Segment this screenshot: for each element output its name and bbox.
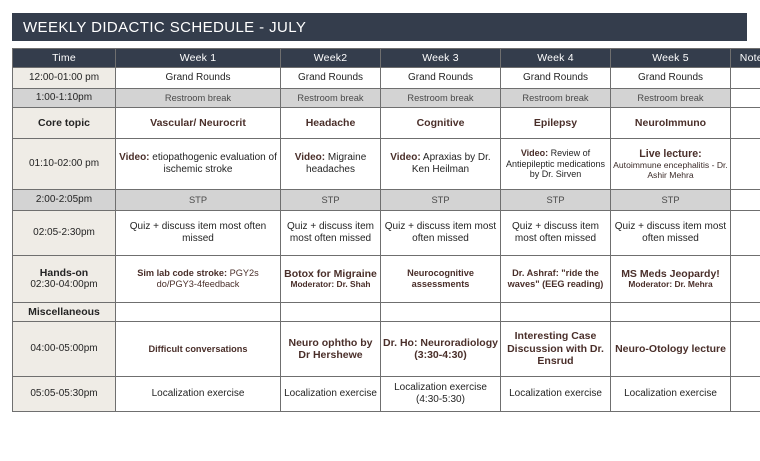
- table-row: Miscellaneous: [13, 303, 760, 322]
- table-row: 05:05-05:30pm Localization exercise Loca…: [13, 377, 760, 412]
- column-header-time: Time: [13, 49, 116, 68]
- cell-notes: [731, 211, 760, 256]
- cell-notes: [731, 108, 760, 139]
- table-row: 12:00-01:00 pm Grand Rounds Grand Rounds…: [13, 68, 760, 89]
- cell-week3: Neurocognitive assessments: [381, 256, 501, 303]
- cell-week2: Botox for Migraine Moderator: Dr. Shah: [281, 256, 381, 303]
- column-header-week5: Week 5: [611, 49, 731, 68]
- cell-week1: Quiz + discuss item most often missed: [116, 211, 281, 256]
- cell-week2: [281, 303, 381, 322]
- table-row: 01:10-02:00 pm Video: etiopathogenic eva…: [13, 139, 760, 190]
- cell-week5: MS Meds Jeopardy! Moderator: Dr. Mehra: [611, 256, 731, 303]
- activity-title: Neurocognitive assessments: [407, 268, 474, 289]
- row-time-label: 01:10-02:00 pm: [13, 139, 116, 190]
- cell-notes: [731, 322, 760, 377]
- cell-week1: Restroom break: [116, 89, 281, 108]
- table-row: Hands-on 02:30-04:00pm Sim lab code stro…: [13, 256, 760, 303]
- cell-week4: Dr. Ashraf: "ride the waves" (EEG readin…: [501, 256, 611, 303]
- cell-week1: Video: etiopathogenic evaluation of isch…: [116, 139, 281, 190]
- cell-week4: Epilepsy: [501, 108, 611, 139]
- activity-title: Botox for Migraine: [284, 268, 377, 280]
- cell-week3: STP: [381, 190, 501, 211]
- column-header-week4: Week 4: [501, 49, 611, 68]
- cell-week2: Localization exercise: [281, 377, 381, 412]
- table-body: 12:00-01:00 pm Grand Rounds Grand Rounds…: [13, 68, 760, 412]
- cell-week3: Video: Apraxias by Dr. Ken Heilman: [381, 139, 501, 190]
- cell-notes: [731, 256, 760, 303]
- video-text: etiopathogenic evaluation of ischemic st…: [150, 152, 277, 175]
- cell-week5: NeuroImmuno: [611, 108, 731, 139]
- cell-week4: Quiz + discuss item most often missed: [501, 211, 611, 256]
- page-title: WEEKLY DIDACTIC SCHEDULE - JULY: [12, 19, 306, 36]
- cell-week4: Restroom break: [501, 89, 611, 108]
- cell-week4: Video: Review of Antiepileptic medicatio…: [501, 139, 611, 190]
- table-row: 02:05-2:30pm Quiz + discuss item most of…: [13, 211, 760, 256]
- header-row: Time Week 1 Week2 Week 3 Week 4 Week 5 N…: [13, 49, 760, 68]
- video-text: Apraxias by Dr. Ken Heilman: [412, 152, 491, 175]
- video-label: Video:: [390, 152, 420, 163]
- cell-week3: Restroom break: [381, 89, 501, 108]
- cell-week2: Video: Migraine headaches: [281, 139, 381, 190]
- table-row: Core topic Vascular/ Neurocrit Headache …: [13, 108, 760, 139]
- cell-week5: Restroom break: [611, 89, 731, 108]
- cell-week2: Neuro ophtho by Dr Hershewe: [281, 322, 381, 377]
- activity-title: MS Meds Jeopardy!: [621, 268, 720, 280]
- row-time-label: 12:00-01:00 pm: [13, 68, 116, 89]
- cell-notes: [731, 89, 760, 108]
- schedule-page: WEEKLY DIDACTIC SCHEDULE - JULY Time Wee…: [0, 0, 760, 461]
- cell-week3: Dr. Ho: Neuroradiology (3:30-4:30): [381, 322, 501, 377]
- table-row: 1:00-1:10pm Restroom break Restroom brea…: [13, 89, 760, 108]
- cell-week3: Grand Rounds: [381, 68, 501, 89]
- activity-label: Sim lab code stroke:: [137, 268, 227, 278]
- cell-week1: Vascular/ Neurocrit: [116, 108, 281, 139]
- cell-notes: [731, 303, 760, 322]
- column-header-notes: Notes: [731, 49, 760, 68]
- row-time-label: Core topic: [13, 108, 116, 139]
- lecture-text: Autoimmune encephalitis - Dr. Ashir Mehr…: [613, 160, 728, 180]
- cell-week5: Localization exercise: [611, 377, 731, 412]
- cell-week1: [116, 303, 281, 322]
- cell-week3: Localization exercise (4:30-5:30): [381, 377, 501, 412]
- video-label: Video:: [295, 152, 325, 163]
- cell-week2: STP: [281, 190, 381, 211]
- cell-week1: Localization exercise: [116, 377, 281, 412]
- activity-moderator: Moderator: Dr. Mehra: [613, 280, 728, 290]
- cell-week3: [381, 303, 501, 322]
- cell-week2: Restroom break: [281, 89, 381, 108]
- column-header-week1: Week 1: [116, 49, 281, 68]
- cell-week4: [501, 303, 611, 322]
- cell-notes: [731, 68, 760, 89]
- cell-week1: STP: [116, 190, 281, 211]
- table-row: 2:00-2:05pm STP STP STP STP STP: [13, 190, 760, 211]
- cell-week3: Cognitive: [381, 108, 501, 139]
- cell-week2: Quiz + discuss item most often missed: [281, 211, 381, 256]
- row-time-label: 02:05-2:30pm: [13, 211, 116, 256]
- cell-week5: STP: [611, 190, 731, 211]
- cell-week5: Quiz + discuss item most often missed: [611, 211, 731, 256]
- cell-week5: Live lecture:Autoimmune encephalitis - D…: [611, 139, 731, 190]
- cell-week3: Quiz + discuss item most often missed: [381, 211, 501, 256]
- cell-week4: STP: [501, 190, 611, 211]
- column-header-week2: Week2: [281, 49, 381, 68]
- cell-week2: Headache: [281, 108, 381, 139]
- video-label: Video:: [119, 152, 149, 163]
- cell-week4: Interesting Case Discussion with Dr. Ens…: [501, 322, 611, 377]
- cell-week1: Sim lab code stroke: PGY2s do/PGY3-4feed…: [116, 256, 281, 303]
- row-time-label: 1:00-1:10pm: [13, 89, 116, 108]
- row-time-label: 2:00-2:05pm: [13, 190, 116, 211]
- cell-week5: [611, 303, 731, 322]
- row-time-range: 02:30-04:00pm: [30, 279, 97, 290]
- cell-week1: Difficult conversations: [116, 322, 281, 377]
- cell-week2: Grand Rounds: [281, 68, 381, 89]
- lecture-label: Live lecture:: [613, 148, 728, 161]
- cell-notes: [731, 377, 760, 412]
- page-title-banner: WEEKLY DIDACTIC SCHEDULE - JULY: [12, 13, 747, 41]
- cell-notes: [731, 139, 760, 190]
- cell-week1: Grand Rounds: [116, 68, 281, 89]
- cell-week5: Grand Rounds: [611, 68, 731, 89]
- row-time-label: 05:05-05:30pm: [13, 377, 116, 412]
- row-time-label: Hands-on 02:30-04:00pm: [13, 256, 116, 303]
- row-time-label: 04:00-05:00pm: [13, 322, 116, 377]
- schedule-table-wrapper: Time Week 1 Week2 Week 3 Week 4 Week 5 N…: [12, 48, 747, 412]
- table-header: Time Week 1 Week2 Week 3 Week 4 Week 5 N…: [13, 49, 760, 68]
- cell-week4: Localization exercise: [501, 377, 611, 412]
- table-row: 04:00-05:00pm Difficult conversations Ne…: [13, 322, 760, 377]
- cell-week4: Grand Rounds: [501, 68, 611, 89]
- activity-title: Dr. Ashraf: "ride the waves" (EEG readin…: [508, 268, 604, 289]
- activity-moderator: Moderator: Dr. Shah: [283, 280, 378, 290]
- row-time-label: Miscellaneous: [13, 303, 116, 322]
- video-label: Video:: [521, 148, 548, 158]
- row-time-title: Hands-on: [15, 267, 113, 279]
- cell-week5: Neuro-Otology lecture: [611, 322, 731, 377]
- weekly-schedule-table: Time Week 1 Week2 Week 3 Week 4 Week 5 N…: [12, 48, 760, 412]
- column-header-week3: Week 3: [381, 49, 501, 68]
- cell-notes: [731, 190, 760, 211]
